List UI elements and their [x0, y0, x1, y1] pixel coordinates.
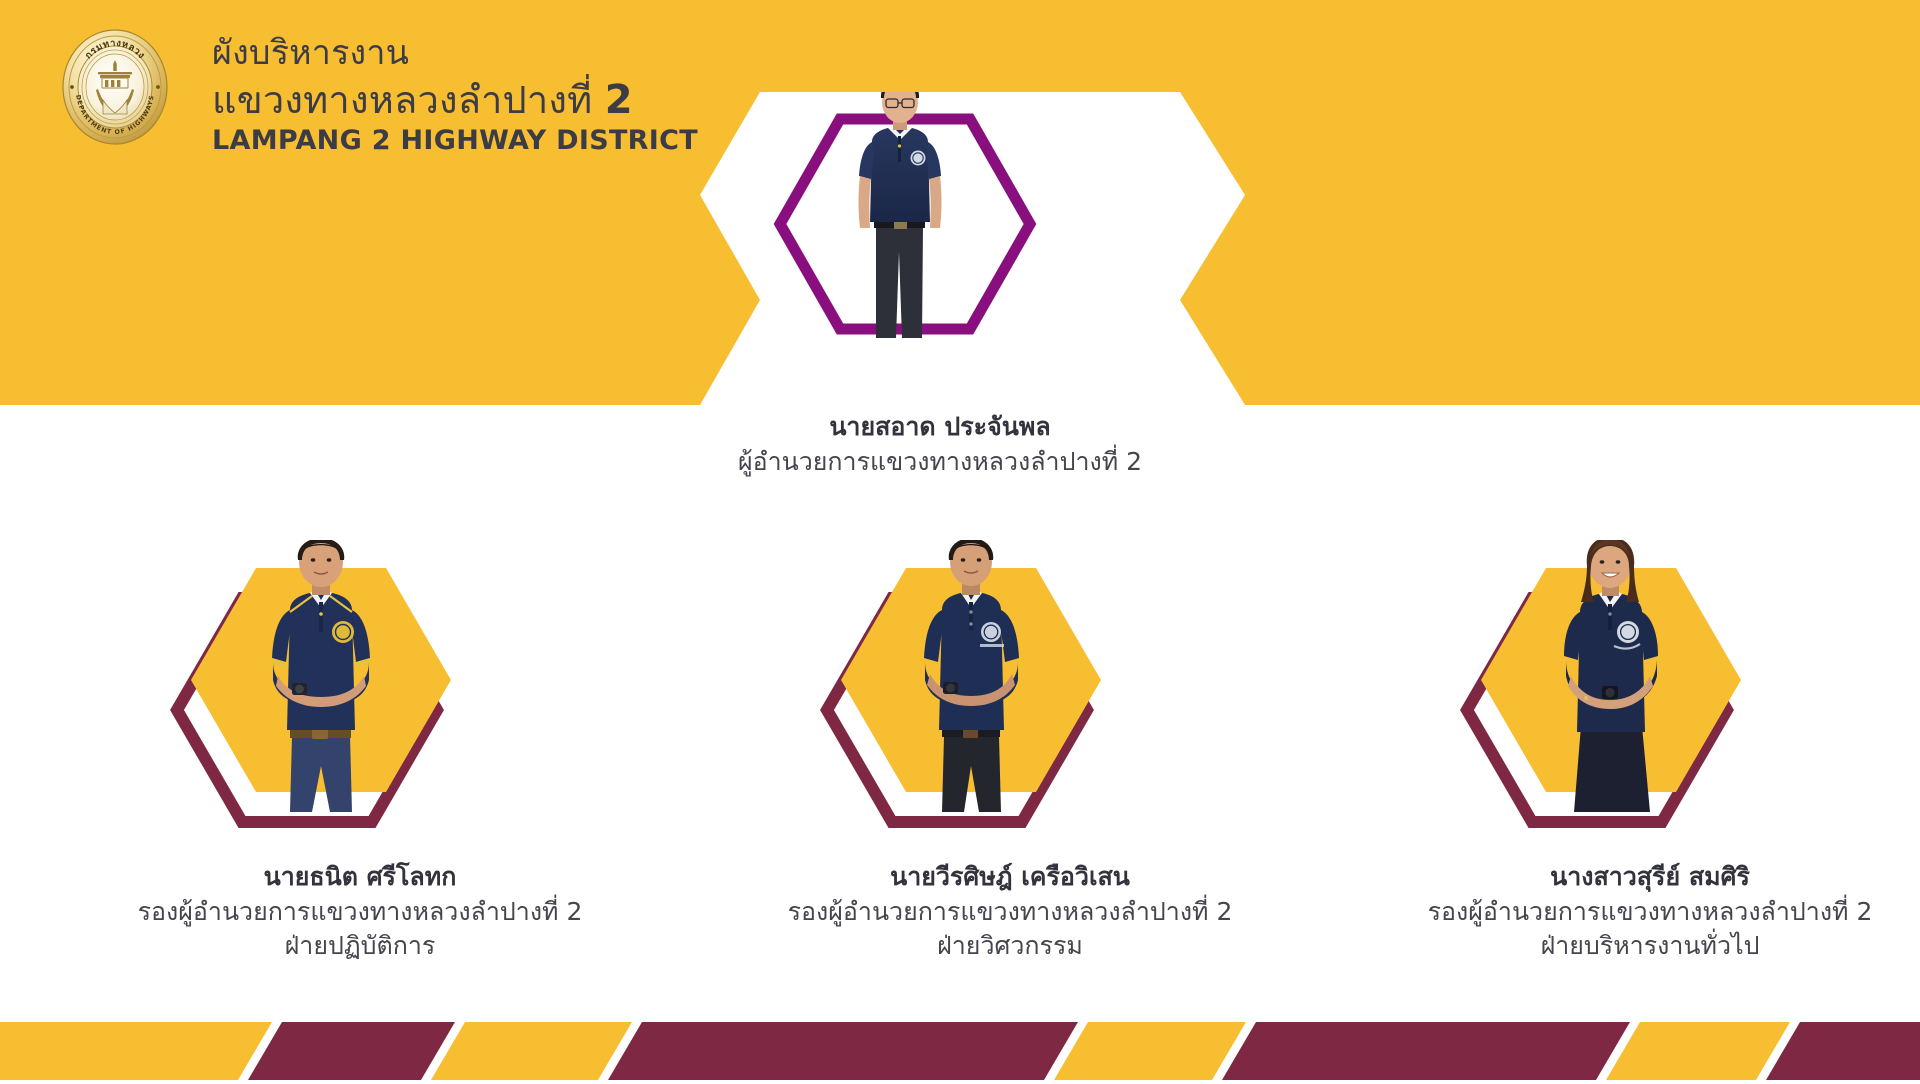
deputy-operations-hex-group — [160, 540, 560, 870]
org-node-deputy-administration[interactable]: นางสาวสุรีย์ สมศิริ รองผู้อำนวยการแขวงทา… — [1450, 540, 1850, 870]
deputy-engineering-hex-group — [810, 540, 1210, 870]
header-title-block: ผังบริหารงาน แขวงทางหลวงลำปางที่ 2 LAMPA… — [212, 36, 698, 154]
org-node-deputy-operations[interactable]: นายธนิต ศรีโลทก รองผู้อำนวยการแขวงทางหลว… — [160, 540, 560, 870]
director-caption: นายสอาด ประจันพล ผู้อำนวยการแขวงทางหลวงล… — [630, 410, 1250, 479]
footer-stripe — [0, 1022, 1920, 1080]
footer-stripe-segment — [248, 1022, 455, 1080]
footer-stripe-segment — [608, 1022, 1078, 1080]
deputy-administration-title-2: ฝ่ายบริหารงานทั่วไป — [1340, 929, 1920, 964]
footer-stripe-segment — [1606, 1022, 1790, 1080]
title-line-2: แขวงทางหลวงลำปางที่ 2 — [212, 80, 698, 120]
deputy-engineering-caption: นายวีรศิษฎ์ เครือวิเสน รองผู้อำนวยการแขว… — [700, 860, 1320, 964]
director-hex-group — [700, 92, 1180, 422]
deputy-administration-title-1: รองผู้อำนวยการแขวงทางหลวงลำปางที่ 2 — [1340, 895, 1920, 930]
deputy-operations-title-2: ฝ่ายปฏิบัติการ — [50, 929, 670, 964]
org-node-deputy-engineering[interactable]: นายวีรศิษฎ์ เครือวิเสน รองผู้อำนวยการแขว… — [810, 540, 1210, 870]
deputy-administration-hex-group — [1450, 540, 1850, 870]
deputy-engineering-title-1: รองผู้อำนวยการแขวงทางหลวงลำปางที่ 2 — [700, 895, 1320, 930]
footer-stripe-segment — [1766, 1022, 1920, 1080]
deputy-operations-caption: นายธนิต ศรีโลทก รองผู้อำนวยการแขวงทางหลว… — [50, 860, 670, 964]
deputy-administration-name: นางสาวสุรีย์ สมศิริ — [1340, 860, 1920, 895]
footer-stripe-segment — [1222, 1022, 1630, 1080]
deputy-engineering-title-2: ฝ่ายวิศวกรรม — [700, 929, 1320, 964]
footer-stripe-segment — [0, 1022, 272, 1080]
footer-stripe-segment — [1054, 1022, 1246, 1080]
director-title-1: ผู้อำนวยการแขวงทางหลวงลำปางที่ 2 — [630, 445, 1250, 480]
director-name: นายสอาด ประจันพล — [630, 410, 1250, 445]
footer-stripe-segment — [431, 1022, 632, 1080]
deputy-operations-title-1: รองผู้อำนวยการแขวงทางหลวงลำปางที่ 2 — [50, 895, 670, 930]
director-photo — [780, 92, 1030, 338]
department-logo: กรมทางหลวง DEPARTMENT OF HIGHWAYS — [56, 28, 174, 146]
deputy-operations-name: นายธนิต ศรีโลทก — [50, 860, 670, 895]
title-line-2-text: แขวงทางหลวงลำปางที่ — [212, 78, 592, 122]
deputy-engineering-name: นายวีรศิษฎ์ เครือวิเสน — [700, 860, 1320, 895]
org-chart-page: กรมทางหลวง DEPARTMENT OF HIGHWAYS ผังบริ… — [0, 0, 1920, 1080]
title-line-3-english: LAMPANG 2 HIGHWAY DISTRICT — [212, 127, 698, 154]
org-node-director[interactable]: นายสอาด ประจันพล ผู้อำนวยการแขวงทางหลวงล… — [700, 92, 1180, 422]
title-line-2-number: 2 — [605, 77, 633, 123]
title-line-1: ผังบริหารงาน — [212, 36, 698, 70]
deputy-administration-caption: นางสาวสุรีย์ สมศิริ รองผู้อำนวยการแขวงทา… — [1340, 860, 1920, 964]
